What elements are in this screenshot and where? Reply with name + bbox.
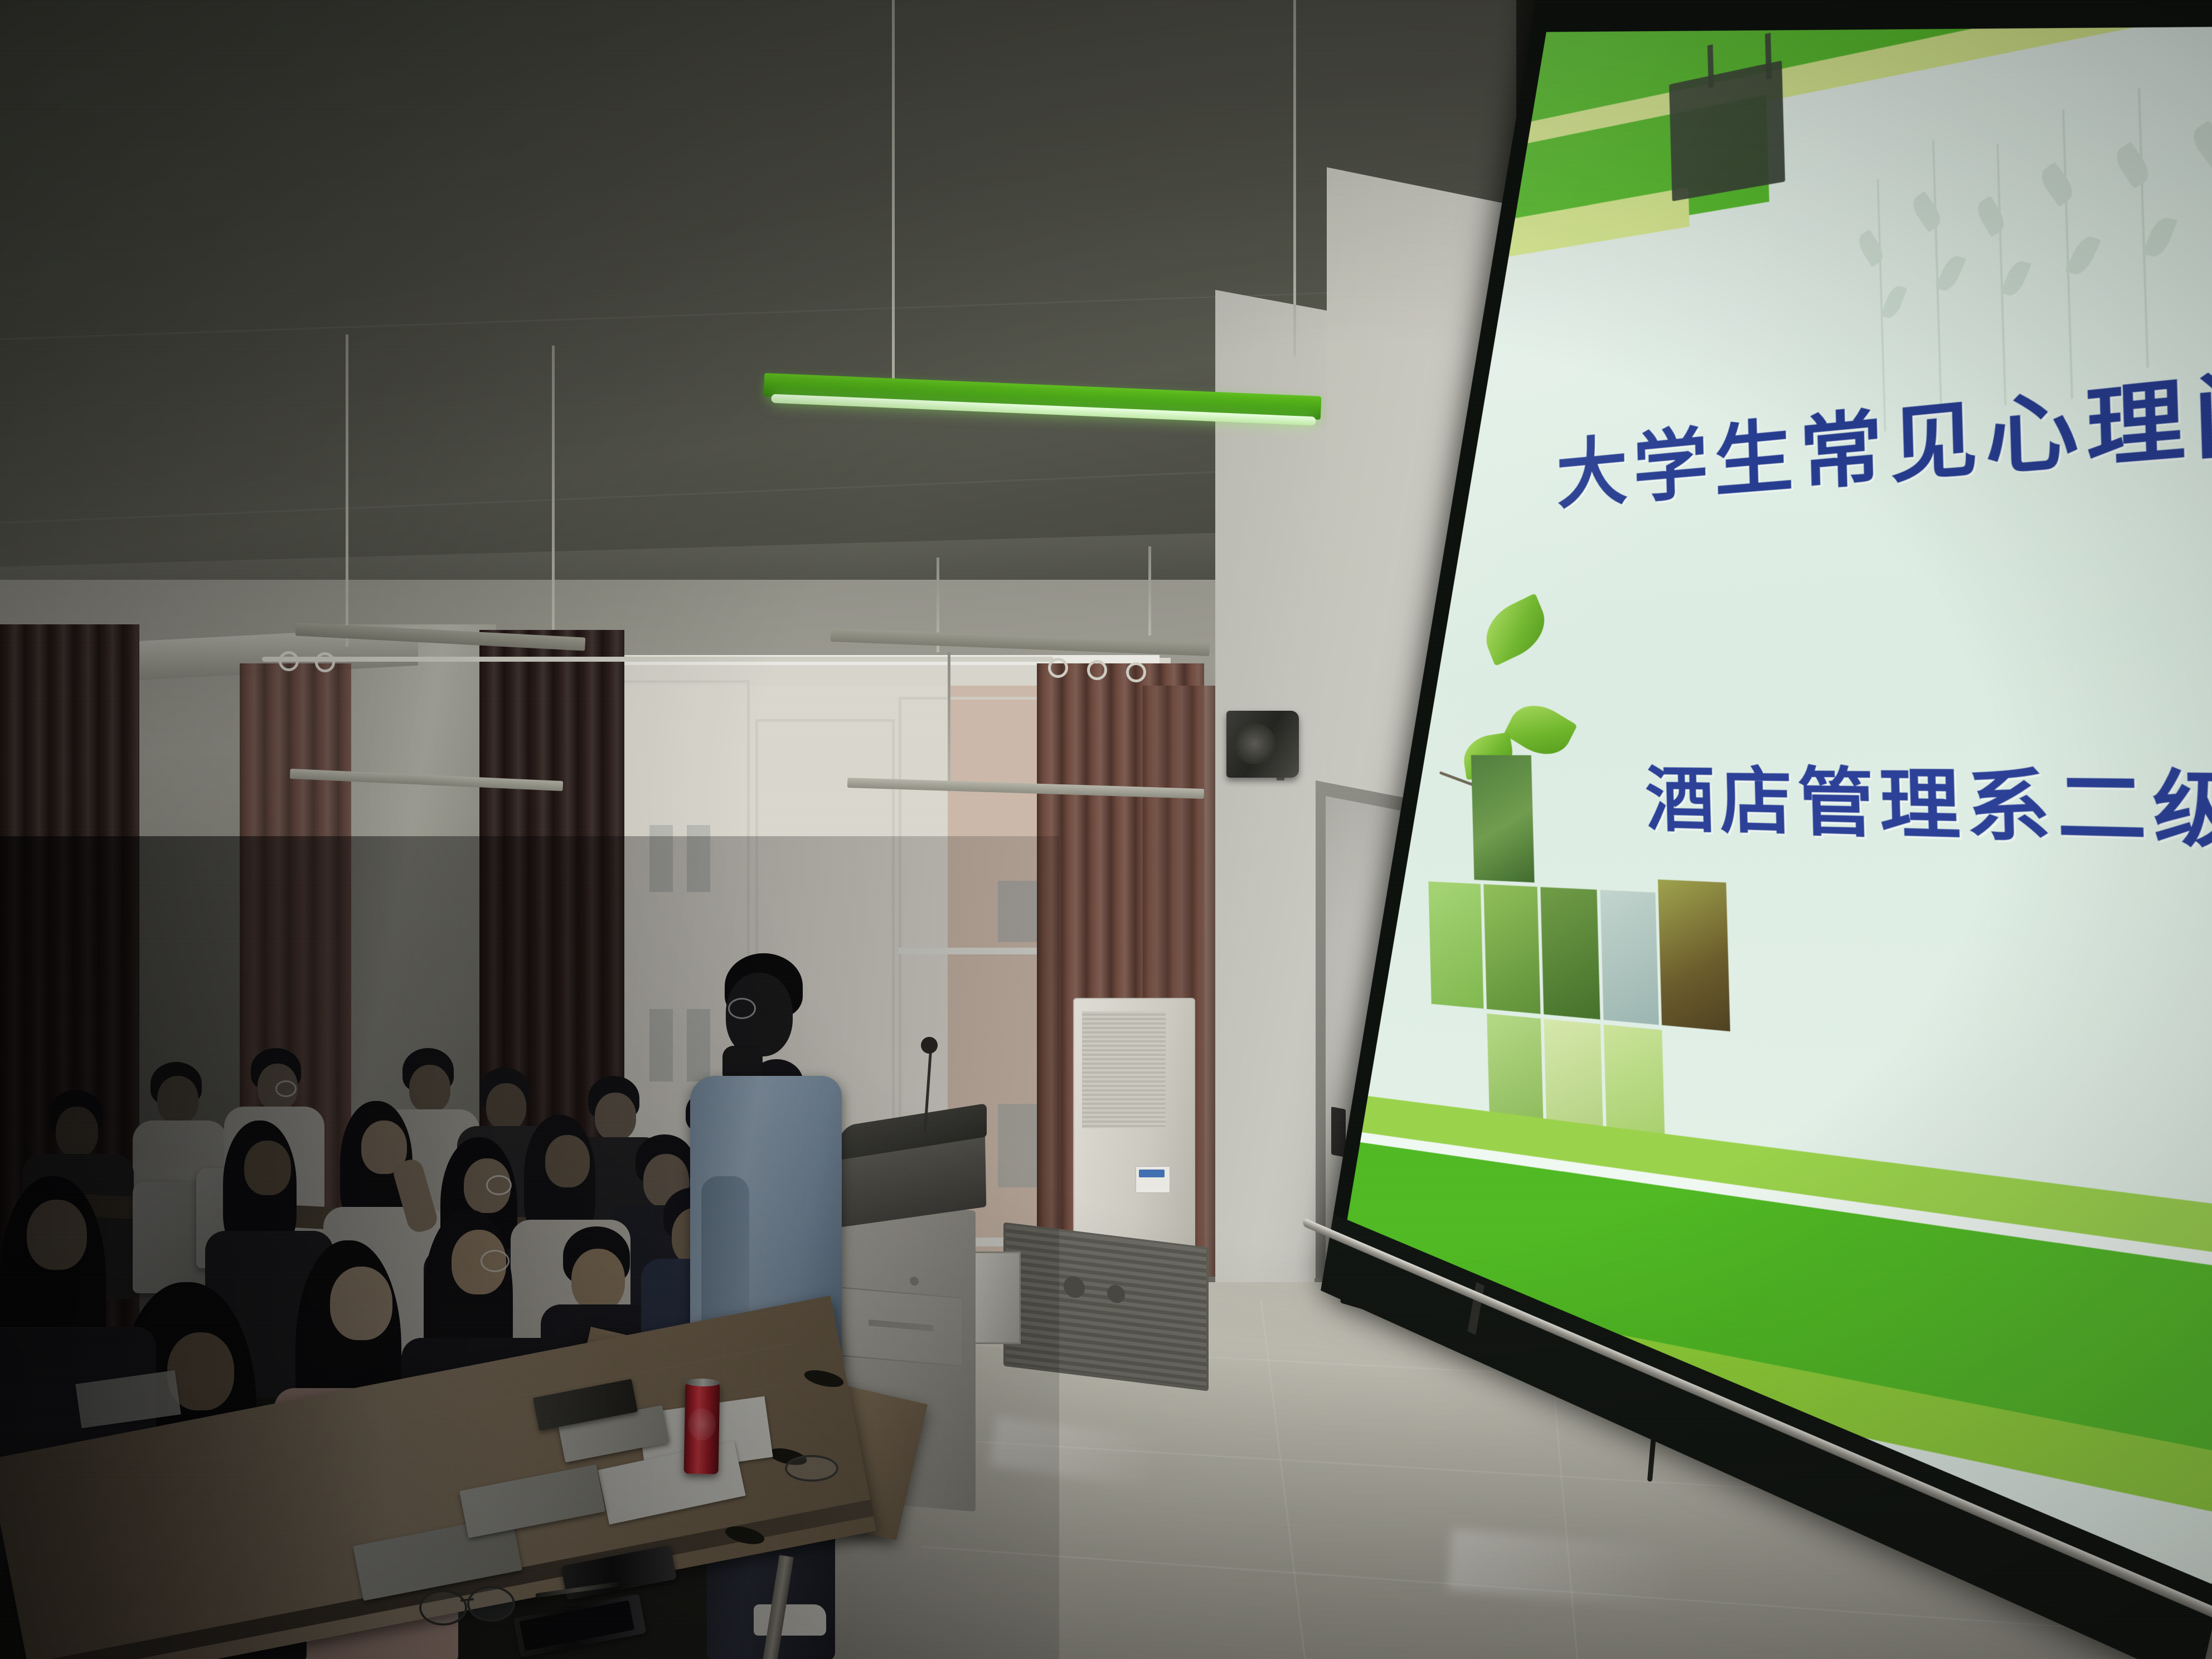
phone-screen[interactable] xyxy=(520,1600,635,1651)
light-hanger-rod xyxy=(1148,546,1151,636)
eyeglasses xyxy=(481,1250,510,1272)
rack-vent-hole xyxy=(1064,1275,1085,1299)
collage-tile-grass xyxy=(1483,884,1541,1014)
light-hanger-rod xyxy=(552,346,555,630)
lectern-lock[interactable] xyxy=(910,1276,919,1286)
presenter-eyeglasses xyxy=(728,998,756,1019)
presenter-shoe xyxy=(754,1604,826,1636)
leaf-blade xyxy=(1478,593,1554,666)
eyeglasses xyxy=(486,1175,512,1195)
collage-tile-soil-sprout xyxy=(1658,880,1730,1032)
ac-grille xyxy=(1082,1011,1166,1128)
speaker-cone xyxy=(1234,723,1275,764)
head xyxy=(486,1083,526,1130)
head xyxy=(545,1135,590,1187)
soda-can[interactable] xyxy=(684,1382,720,1474)
wall-speaker xyxy=(1226,711,1299,778)
head xyxy=(56,1107,98,1157)
smartphone[interactable] xyxy=(513,1594,647,1658)
curtain-grommet xyxy=(315,652,335,672)
can-lid xyxy=(685,1378,720,1386)
classroom-photo-scene: 大学生常见心理问题识别及应对 酒店管理系二级心理工作站 xyxy=(0,0,2212,1659)
light-hanger-rod xyxy=(346,334,348,647)
collage-tile-white-flower xyxy=(1472,755,1535,882)
light-hanger-rod xyxy=(1293,0,1296,357)
light-hanger-rod xyxy=(892,0,895,390)
light-hanger-rod xyxy=(948,652,950,792)
eyeglasses xyxy=(275,1080,297,1097)
head xyxy=(595,1093,636,1141)
equipment-rack[interactable] xyxy=(1003,1222,1209,1391)
head xyxy=(571,1249,625,1311)
ac-badge xyxy=(1139,1170,1165,1177)
collage-tile-seedling xyxy=(1541,887,1600,1020)
head xyxy=(244,1141,291,1195)
head xyxy=(409,1065,450,1113)
curtain-grommet xyxy=(279,651,299,671)
collage-tile-green-wash xyxy=(1429,881,1484,1009)
head xyxy=(27,1200,87,1270)
head xyxy=(157,1076,198,1124)
collage-tile-pale-blue xyxy=(1600,890,1658,1025)
eyeglasses-lens[interactable] xyxy=(467,1586,515,1622)
eyeglasses-lens[interactable] xyxy=(419,1590,467,1626)
microphone-head[interactable] xyxy=(921,1037,938,1054)
projector-shadow xyxy=(1669,60,1785,201)
can-logo xyxy=(688,1408,716,1441)
curtain-grommet xyxy=(1126,662,1146,682)
curtain-grommet xyxy=(1087,660,1107,680)
rack-vent-hole xyxy=(1107,1284,1125,1304)
head xyxy=(330,1267,392,1340)
curtain-grommet xyxy=(1048,658,1068,678)
curtain-rod xyxy=(262,657,1054,662)
eyeglasses-lens[interactable] xyxy=(785,1455,838,1482)
